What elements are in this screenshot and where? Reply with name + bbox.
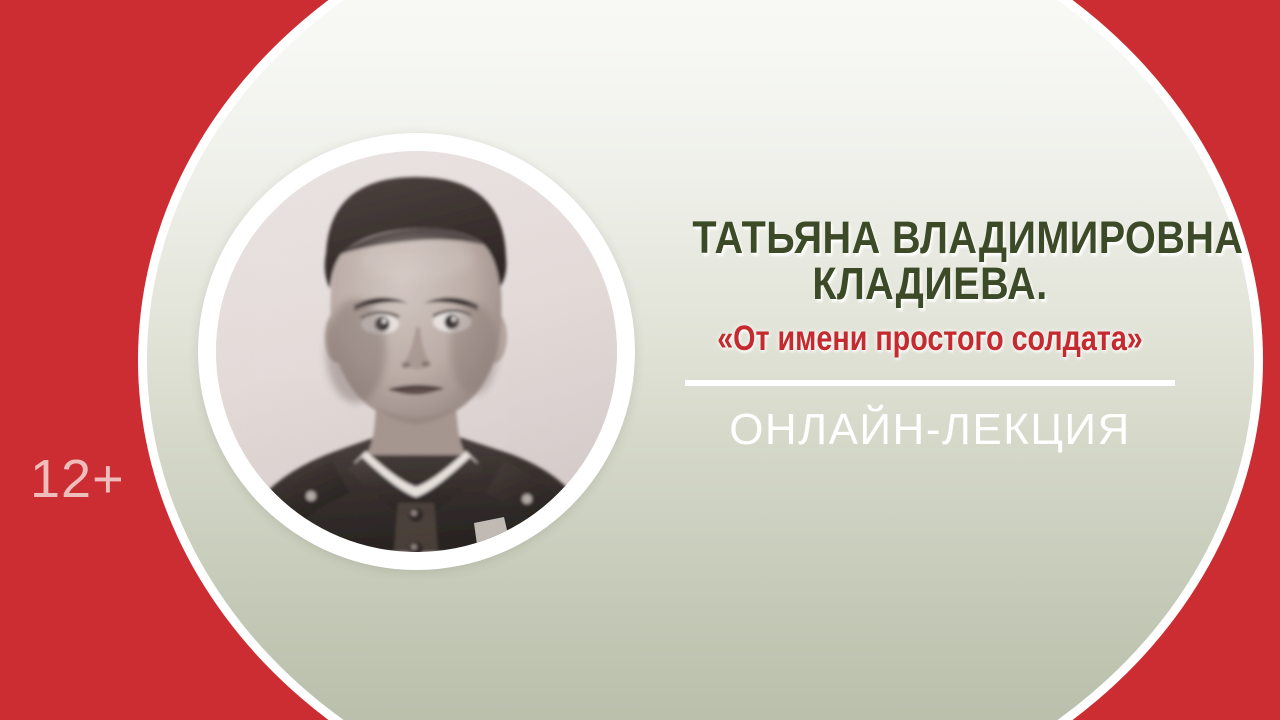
portrait-photo xyxy=(216,151,617,552)
portrait-illustration xyxy=(216,151,617,552)
lecture-subtitle: «От имени простого солдата» xyxy=(709,321,1152,358)
page-title-line-1: ТАТЬЯНА ВЛАДИМИРОВНА xyxy=(692,215,1167,261)
slide-text-block: ТАТЬЯНА ВЛАДИМИРОВНА КЛАДИЕВА. «От имени… xyxy=(660,215,1200,452)
age-rating-badge: 12+ xyxy=(30,452,125,506)
divider-rule xyxy=(685,380,1175,386)
page-title-line-2: КЛАДИЕВА. xyxy=(692,261,1167,307)
event-format-label: ОНЛАЙН-ЛЕКЦИЯ xyxy=(660,408,1200,452)
page-title: ТАТЬЯНА ВЛАДИМИРОВНА КЛАДИЕВА. xyxy=(692,215,1167,307)
presentation-slide: 12+ ТАТЬЯНА ВЛАДИМИРОВНА КЛАДИЕВА. «От и… xyxy=(0,0,1280,720)
